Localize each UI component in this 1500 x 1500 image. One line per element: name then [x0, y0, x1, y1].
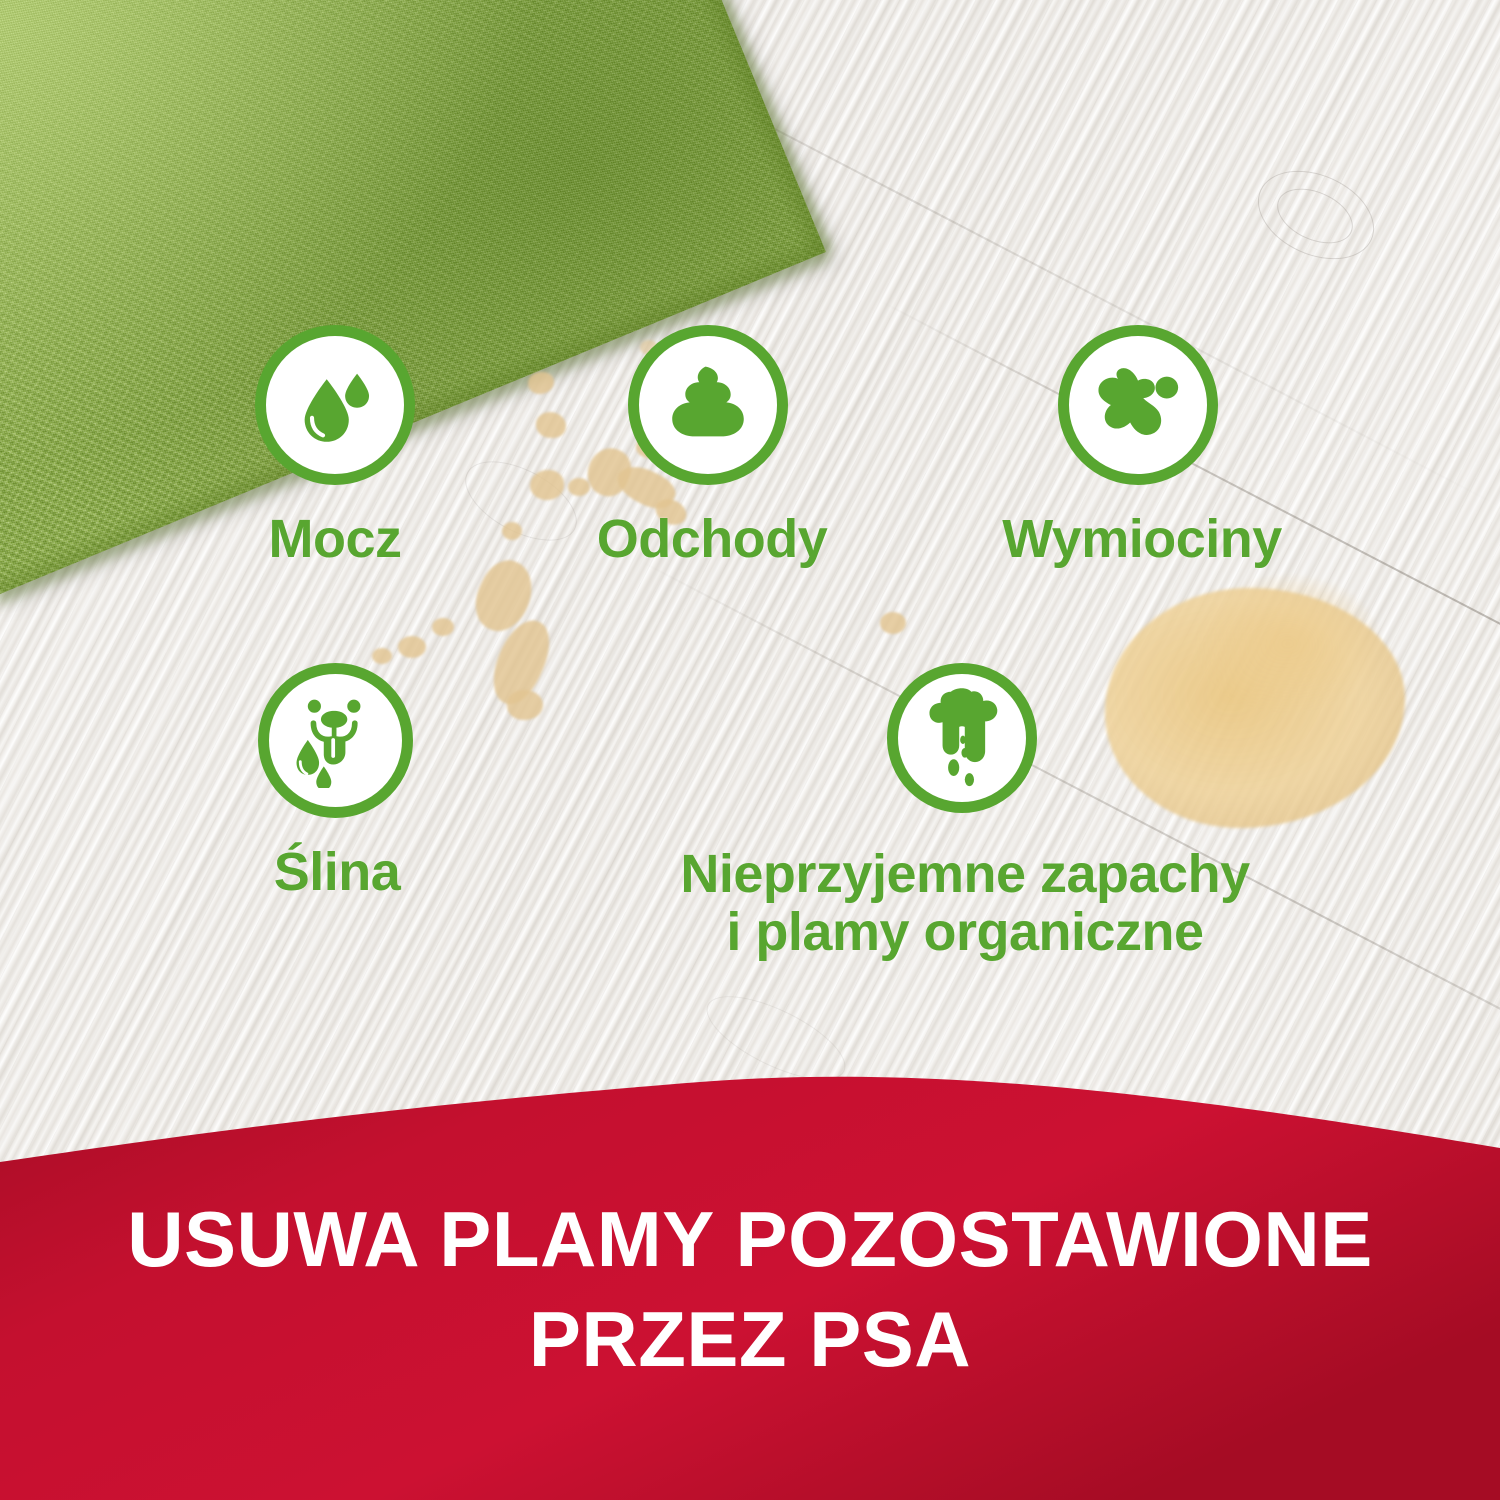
feature-badge-urine[interactable]: [255, 325, 415, 485]
splatter-droplet: [568, 478, 590, 496]
feature-badge-saliva[interactable]: [258, 663, 413, 818]
splatter-droplet: [372, 648, 392, 664]
feature-label-feces: Odchody: [597, 512, 828, 567]
splatter-droplet: [398, 636, 426, 658]
poop-icon: [660, 360, 756, 450]
feature-label-odors: Nieprzyjemne zapachy i plamy organiczne: [585, 845, 1345, 962]
dog-drool-icon: [289, 694, 383, 788]
banner-headline-line2: PRZEZ PSA: [0, 1290, 1500, 1390]
banner-headline-line1: USUWA PLAMY POZOSTAWIONE: [127, 1195, 1373, 1283]
feature-badge-odors[interactable]: [887, 663, 1037, 813]
feature-badge-feces[interactable]: [628, 325, 788, 485]
splatter-droplet: [880, 612, 906, 634]
splatter-droplet: [530, 470, 564, 500]
feature-label-saliva: Ślina: [274, 845, 401, 900]
feature-label-odors-line2: i plamy organiczne: [726, 902, 1203, 962]
splatter-droplet: [432, 618, 454, 636]
splatter-droplet: [502, 522, 522, 540]
feature-badge-vomit[interactable]: [1058, 325, 1218, 485]
drip-stain-icon: [920, 688, 1004, 788]
splatter-droplet: [536, 412, 566, 438]
feature-label-urine: Mocz: [269, 512, 402, 567]
product-feature-poster: Mocz Odchody Wymiociny Ślina Nieprzyjemn…: [0, 0, 1500, 1500]
feature-label-odors-line1: Nieprzyjemne zapachy: [680, 844, 1249, 904]
feature-label-vomit: Wymiociny: [1002, 512, 1282, 567]
droplet-icon: [289, 359, 381, 451]
bottom-banner: USUWA PLAMY POZOSTAWIONE PRZEZ PSA: [0, 1070, 1500, 1500]
splatter-droplet: [507, 690, 543, 720]
banner-headline: USUWA PLAMY POZOSTAWIONE PRZEZ PSA: [0, 1190, 1500, 1390]
splat-icon: [1090, 361, 1186, 449]
